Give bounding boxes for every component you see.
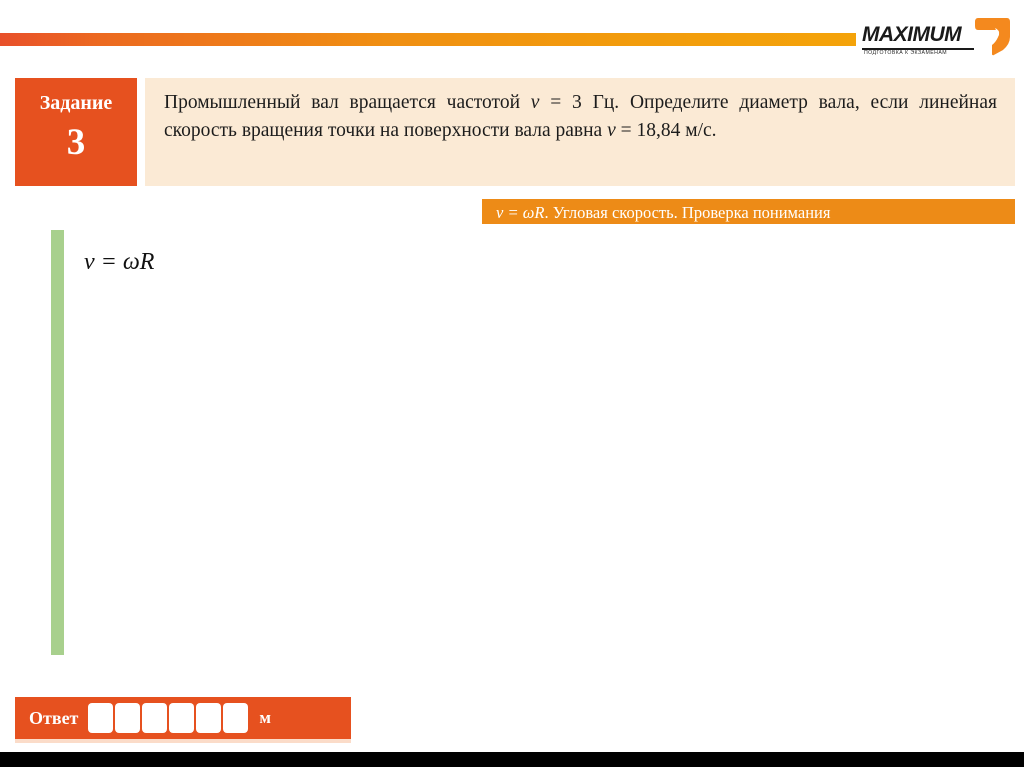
task-symbol-v: v (607, 120, 616, 141)
maximum-logo: MAXIMUM ПОДГОТОВКА К ЭКЗАМЕНАМ (862, 14, 1010, 62)
solution-accent-bar (51, 230, 64, 655)
task-badge-number: 3 (15, 113, 137, 161)
topic-banner: v = ωR. Угловая скорость. Проверка поним… (482, 199, 1015, 224)
answer-box-1[interactable] (88, 703, 113, 733)
task-badge-label: Задание (15, 78, 137, 113)
solution-formula: v = ωR (84, 249, 154, 276)
answer-box-4[interactable] (169, 703, 194, 733)
answer-bar: Ответ м (15, 697, 351, 739)
answer-box-2[interactable] (115, 703, 140, 733)
topic-banner-formula: v = ωR (496, 203, 544, 222)
logo-wordmark: MAXIMUM (862, 23, 974, 50)
answer-box-3[interactable] (142, 703, 167, 733)
answer-label: Ответ (29, 708, 78, 729)
answer-box-6[interactable] (223, 703, 248, 733)
answer-bar-shadow (15, 739, 351, 743)
topic-banner-title: Угловая скорость. Проверка понимания (553, 203, 831, 222)
task-statement-text: Промышленный вал вращается частотой ν = … (164, 89, 997, 145)
answer-unit-label: м (259, 708, 271, 728)
answer-box-5[interactable] (196, 703, 221, 733)
footer-bar (0, 752, 1024, 767)
task-badge: Задание 3 (15, 78, 137, 186)
topic-banner-separator: . (544, 203, 552, 222)
logo-flame-icon (974, 16, 1010, 56)
task-text-part3: = 18,84 м/с. (616, 120, 717, 141)
task-statement-panel: Промышленный вал вращается частотой ν = … (145, 78, 1015, 186)
logo-tagline: ПОДГОТОВКА К ЭКЗАМЕНАМ (864, 50, 976, 56)
header-accent-rule (0, 33, 856, 46)
task-text-part1: Промышленный вал вращается частотой (164, 92, 531, 113)
answer-input-group[interactable] (88, 703, 248, 733)
